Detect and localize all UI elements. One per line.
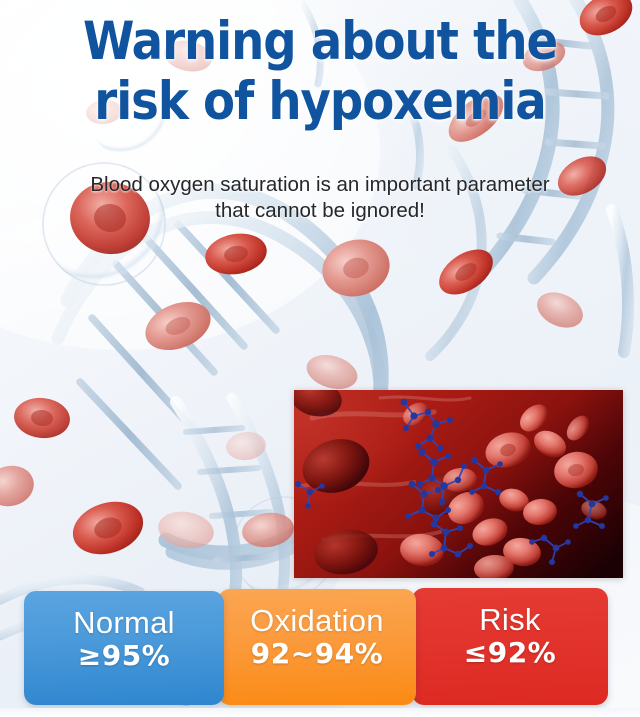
- legend-item-risk[interactable]: Risk ≤92%: [412, 588, 608, 705]
- subtitle-line-2: that cannot be ignored!: [0, 198, 640, 224]
- legend-value-risk: ≤92%: [412, 637, 608, 669]
- legend-label-normal: Normal: [24, 606, 224, 640]
- hypoxemia-warning-poster: Warning about the risk of hypoxemia Bloo…: [0, 0, 640, 717]
- blood-cells-inset-image: [294, 390, 623, 578]
- legend-label-oxidation: Oxidation: [218, 604, 416, 638]
- saturation-legend-banner: Normal ≥95% Oxidation 92~94% Risk ≤92%: [0, 586, 640, 710]
- legend-item-oxidation[interactable]: Oxidation 92~94%: [218, 589, 416, 705]
- page-subtitle: Blood oxygen saturation is an important …: [0, 172, 640, 224]
- legend-item-normal[interactable]: Normal ≥95%: [24, 591, 224, 705]
- legend-value-normal: ≥95%: [24, 640, 224, 672]
- banner-bottom-strip: [0, 708, 640, 717]
- legend-value-oxidation: 92~94%: [218, 638, 416, 670]
- subtitle-line-1: Blood oxygen saturation is an important …: [0, 172, 640, 198]
- title-line-1: Warning about the: [38, 12, 601, 72]
- page-title: Warning about the risk of hypoxemia: [0, 12, 640, 132]
- legend-label-risk: Risk: [412, 603, 608, 637]
- title-line-2: risk of hypoxemia: [38, 72, 601, 132]
